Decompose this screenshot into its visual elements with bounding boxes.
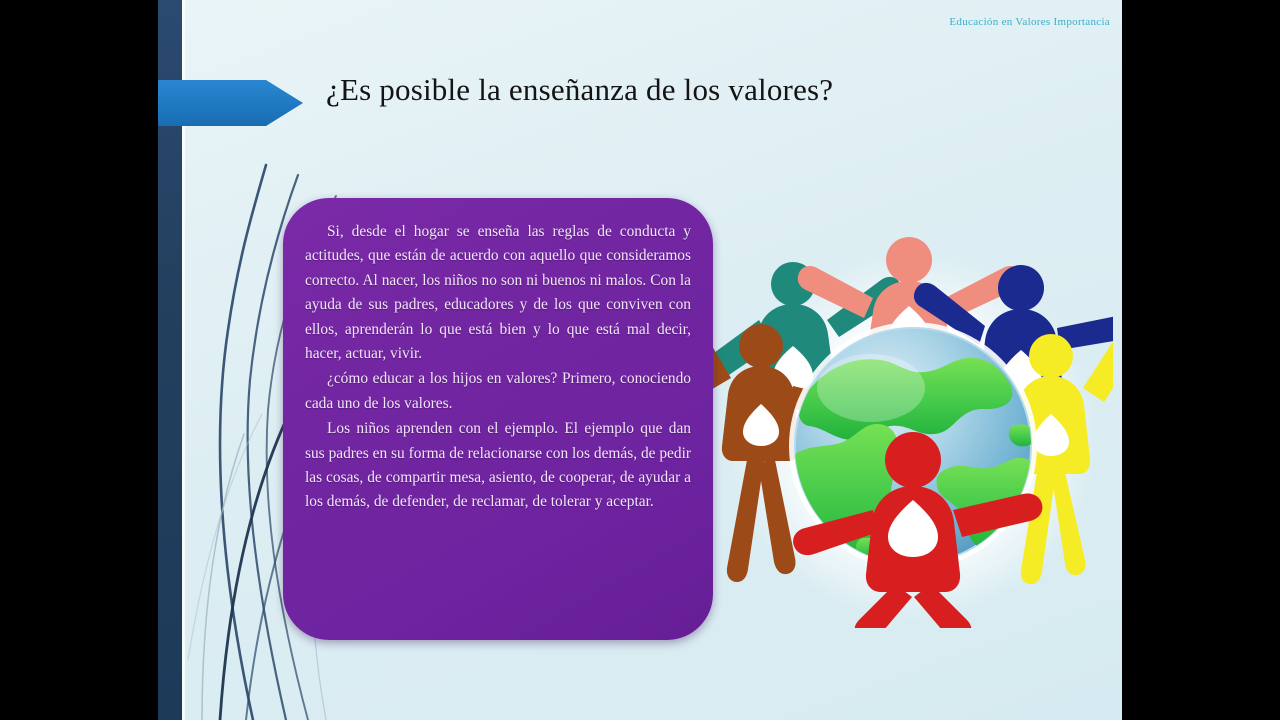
body-paragraph-3: Los niños aprenden con el ejemplo. El ej… — [305, 417, 691, 515]
page-title: ¿Es posible la enseñanza de los valores? — [326, 72, 1046, 108]
letterbox-right — [1122, 0, 1280, 720]
body-paragraph-1: Si, desde el hogar se enseña las reglas … — [305, 220, 691, 366]
people-around-globe-illustration — [713, 228, 1113, 628]
body-text-panel: Si, desde el hogar se enseña las reglas … — [283, 198, 713, 640]
presentation-slide: Educación en Valores Importancia ¿Es pos… — [158, 0, 1122, 720]
slide-kicker: Educación en Valores Importancia — [949, 16, 1110, 28]
letterbox-left — [0, 0, 158, 720]
arrow-right-bullet-icon — [158, 80, 303, 126]
body-paragraph-2: ¿cómo educar a los hijos en valores? Pri… — [305, 367, 691, 416]
video-frame: Educación en Valores Importancia ¿Es pos… — [0, 0, 1280, 720]
